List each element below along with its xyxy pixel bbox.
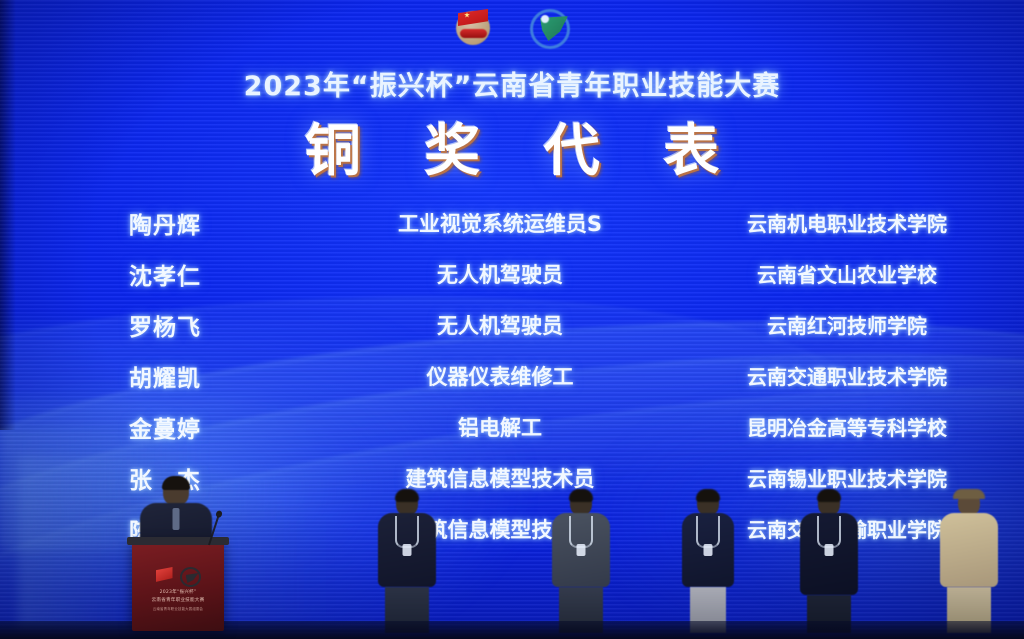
- podium-line-1: 2023年“振兴杯”: [132, 589, 224, 597]
- podium-top: [127, 537, 229, 545]
- person-hair: [696, 489, 720, 502]
- podium-logos: [132, 567, 224, 587]
- communist-youth-league-emblem: [451, 5, 497, 47]
- table-row: 罗杨飞 无人机驾驶员 云南红河技师学院: [0, 299, 1024, 350]
- person-hair: [395, 489, 419, 502]
- stage-person: [378, 490, 436, 633]
- winner-school: 云南交通职业技术学院: [670, 361, 1024, 390]
- winner-school: 云南锡业职业技术学院: [670, 463, 1024, 492]
- winner-school: 云南省文山农业学校: [670, 259, 1024, 288]
- winner-school: 云南红河技师学院: [670, 310, 1024, 339]
- speaker-head: [163, 476, 189, 506]
- winner-name: 金蔓婷: [0, 410, 330, 444]
- winner-school: 昆明冶金高等专科学校: [670, 412, 1024, 441]
- podium-line-3: 云南省青年职业技能大赛组委会: [132, 606, 224, 612]
- winner-name: 胡耀凯: [0, 359, 330, 393]
- table-row: 胡耀凯 仪器仪表维修工 云南交通职业技术学院: [0, 350, 1024, 401]
- person-hat: [953, 489, 985, 499]
- winner-name: 罗杨飞: [0, 308, 330, 342]
- table-row: 金蔓婷 铝电解工 昆明冶金高等专科学校: [0, 401, 1024, 452]
- person-hair: [817, 489, 841, 502]
- emblem-banner: [460, 29, 487, 38]
- winner-occupation: 无人机驾驶员: [330, 310, 670, 340]
- person-badge: [825, 544, 834, 556]
- table-row: 陶丹辉 工业视觉系统运维员S 云南机电职业技术学院: [0, 197, 1024, 248]
- emblem-row: [0, 2, 1024, 50]
- podium-line-2: 云南省青年职业技能大赛: [132, 597, 224, 605]
- podium: 2023年“振兴杯” 云南省青年职业技能大赛 云南省青年职业技能大赛组委会: [132, 543, 224, 631]
- award-title: 铜 奖 代 表: [0, 106, 1024, 187]
- table-row: 沈孝仁 无人机驾驶员 云南省文山农业学校: [0, 248, 1024, 299]
- podium-leaf-icon: [180, 567, 201, 587]
- stage-person: [552, 490, 610, 633]
- winner-occupation: 无人机驾驶员: [330, 259, 670, 289]
- person-badge: [704, 544, 713, 556]
- winner-school: 云南机电职业技术学院: [670, 208, 1024, 237]
- stage-screenshot: 2023年“振兴杯”云南省青年职业技能大赛 铜 奖 代 表 陶丹辉 工业视觉系统…: [0, 0, 1024, 639]
- winner-occupation: 仪器仪表维修工: [330, 361, 670, 391]
- stage-person: [682, 490, 734, 633]
- winner-occupation: 铝电解工: [330, 412, 670, 442]
- podium-youth-league-icon: [156, 567, 173, 582]
- winner-name: 沈孝仁: [0, 257, 330, 291]
- podium-text: 2023年“振兴杯” 云南省青年职业技能大赛 云南省青年职业技能大赛组委会: [132, 589, 224, 612]
- emblem-dot: [541, 15, 549, 23]
- person-hair: [569, 489, 593, 502]
- winner-occupation: 工业视觉系统运维员S: [330, 208, 670, 238]
- speaker-hair: [162, 476, 190, 490]
- event-subtitle: 2023年“振兴杯”云南省青年职业技能大赛: [0, 64, 1024, 103]
- person-body: [940, 513, 998, 587]
- stage-person: [800, 490, 858, 633]
- stage-person: [940, 490, 998, 633]
- person-badge: [577, 544, 586, 556]
- person-badge: [403, 544, 412, 556]
- speaker-tie: [173, 508, 180, 530]
- yunnan-green-leaf-emblem: [527, 5, 573, 47]
- winner-name: 陶丹辉: [0, 206, 330, 240]
- winner-occupation: 建筑信息模型技术员: [330, 463, 670, 493]
